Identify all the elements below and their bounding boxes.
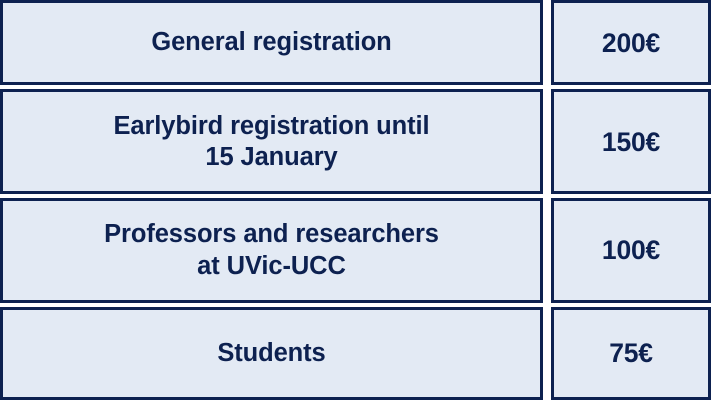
fee-category-cell: Earlybird registration until 15 January	[0, 89, 543, 194]
column-divider	[543, 0, 551, 85]
fee-category-cell: Professors and researchers at UVic-UCC	[0, 198, 543, 303]
fee-category-cell: Students	[0, 307, 543, 400]
column-divider	[543, 89, 551, 194]
pricing-table: General registration 200€ Earlybird regi…	[0, 0, 711, 400]
fee-price-label: 200€	[602, 27, 660, 59]
table-row: General registration 200€	[0, 0, 711, 85]
fee-price-cell: 150€	[551, 89, 711, 194]
fee-category-cell: General registration	[0, 0, 543, 85]
fee-category-label: General registration	[151, 27, 391, 58]
fee-category-label: Earlybird registration until 15 January	[113, 111, 429, 173]
fee-price-label: 75€	[609, 337, 653, 369]
table-row: Students 75€	[0, 307, 711, 400]
fee-category-label: Students	[217, 338, 325, 369]
fee-price-cell: 100€	[551, 198, 711, 303]
fee-price-label: 150€	[602, 126, 660, 158]
table-row: Professors and researchers at UVic-UCC 1…	[0, 198, 711, 303]
column-divider	[543, 198, 551, 303]
fee-category-label: Professors and researchers at UVic-UCC	[104, 219, 439, 281]
fee-price-cell: 75€	[551, 307, 711, 400]
fee-price-cell: 200€	[551, 0, 711, 85]
column-divider	[543, 307, 551, 400]
table-row: Earlybird registration until 15 January …	[0, 89, 711, 194]
fee-price-label: 100€	[602, 234, 660, 266]
